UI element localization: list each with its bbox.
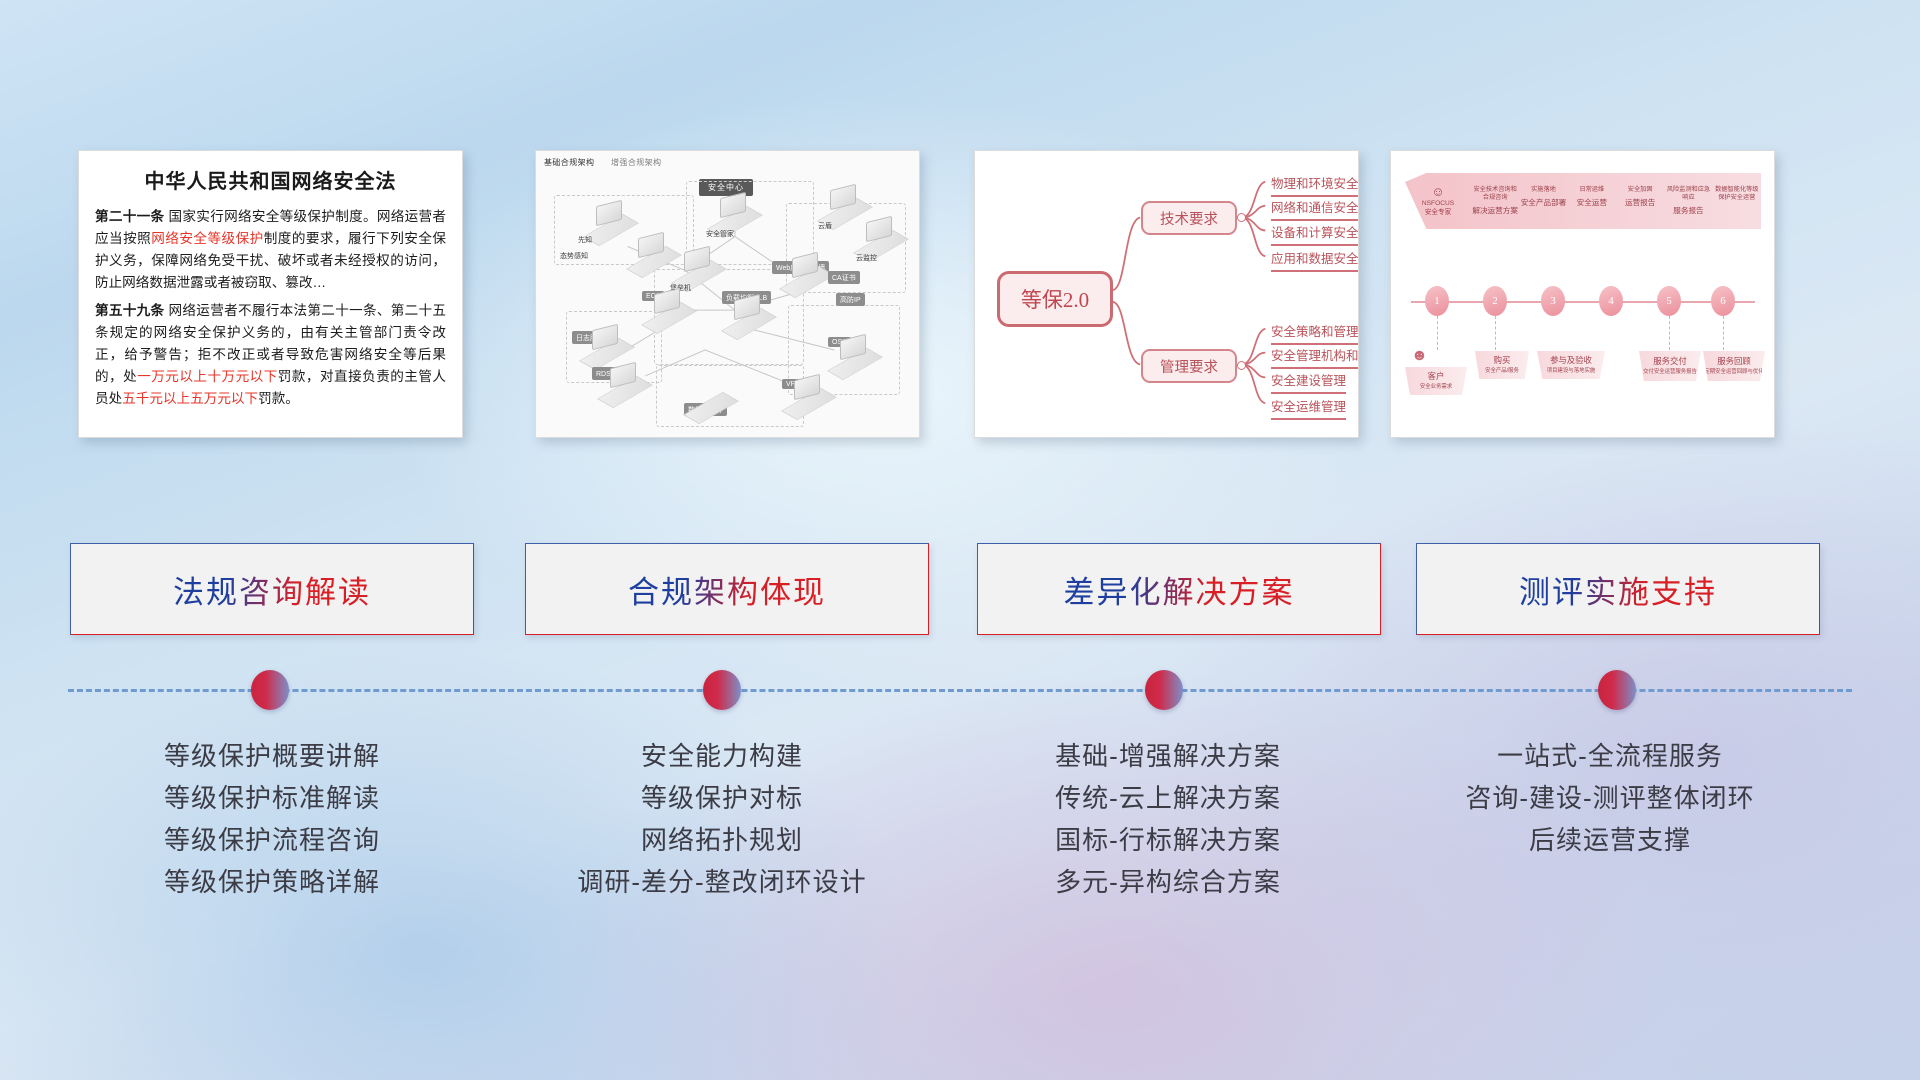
law-article-59: 第五十九条 网络运营者不履行本法第二十一条、第二十五条规定的网络安全保护义务的，… [95, 300, 446, 410]
list-item: 传统-云上解决方案 [958, 777, 1378, 819]
illustration-card-row: 中华人民共和国网络安全法 第二十一条 国家实行网络安全等级保护制度。网络运营者应… [0, 150, 1920, 440]
list-item: 等级保护对标 [512, 777, 932, 819]
timeline-dot-4[interactable] [1598, 670, 1636, 710]
timeline-dot-1[interactable] [251, 670, 289, 710]
card-compliance-architecture: 基础合规架构 增强合规架构 安全中心 先知 态势感知 [535, 150, 920, 438]
mindmap-leaf-device-compute: 设备和计算安全 [1271, 222, 1359, 246]
roadmap-dash-connector [1669, 316, 1670, 350]
roadmap-chip-sub: 安全业务需求 [1420, 384, 1452, 391]
law-text-block: 中华人民共和国网络安全法 第二十一条 国家实行网络安全等级保护制度。网络运营者应… [79, 151, 462, 420]
law-article-21: 第二十一条 国家实行网络安全等级保护制度。网络运营者应当按照网络安全等级保护制度… [95, 206, 446, 294]
mindmap-leaf-physical-env: 物理和环境安全 [1271, 173, 1359, 197]
roadmap-chip-sub: 交付安全运营服务报告 [1643, 369, 1697, 376]
law-title: 中华人民共和国网络安全法 [95, 165, 446, 194]
roadmap-dash-connector [1723, 316, 1724, 350]
roadmap-chip-title: 购买 [1494, 354, 1511, 366]
article-59-text-c: 罚款。 [258, 391, 299, 406]
roadmap-chip-participate: 参与及验收 项目建设与落地实施 [1537, 351, 1605, 379]
roadmap-axis-line [1411, 301, 1755, 303]
list-item: 等级保护策略详解 [62, 861, 482, 903]
mindmap-collapse-knob-icon[interactable] [1237, 361, 1246, 370]
roadmap-chip-customer: 客户 安全业务需求 [1405, 367, 1467, 395]
architecture-label-xianzhi: 先知 [578, 235, 592, 245]
roadmap-brand: ☺ NSFOCUS 安全专家 [1405, 185, 1471, 218]
timeline-dot-3[interactable] [1145, 670, 1183, 710]
roadmap-cell-sub: 实施落地 [1531, 186, 1556, 193]
pillar-title-2: 合规架构体现 [628, 567, 826, 612]
card-cybersecurity-law: 中华人民共和国网络安全法 第二十一条 国家实行网络安全等级保护制度。网络运营者应… [78, 150, 463, 438]
mindmap-leaf-network-comm: 网络和通信安全 [1271, 197, 1359, 221]
architecture-tag-ca: CA证书 [828, 271, 860, 284]
roadmap-chip-delivery: 服务交付 交付安全运营服务报告 [1639, 351, 1701, 381]
architecture-label-shijiao: 态势感知 [560, 251, 588, 261]
list-item: 等级保护概要讲解 [62, 735, 482, 777]
article-59-label: 第五十九条 [95, 303, 164, 318]
card-nsfocus-roadmap: ☺ NSFOCUS 安全专家 安全技术咨询和合规咨询 解决运营方案 实施落地 安… [1390, 150, 1775, 438]
architecture-label-anquanguanjia: 安全管家 [706, 229, 734, 239]
card-dengbao-mindmap: 等保2.0 技术要求 物理和环境安全 网络和通信安全 设备和计算安全 应用和数据… [974, 150, 1359, 438]
roadmap-step-5: 5 [1657, 286, 1681, 316]
mindmap-leaf-app-data: 应用和数据安全 [1271, 248, 1359, 272]
roadmap-chip-sub: 安全产品/服务 [1485, 368, 1519, 375]
mindmap-root-node: 等保2.0 [997, 271, 1113, 327]
list-item: 调研-差分-整改闭环设计 [512, 861, 932, 903]
article-59-highlight-2: 五千元以上五万元以下 [122, 391, 258, 406]
roadmap-cell-title: 安全产品部署 [1519, 198, 1567, 208]
pillar-title-row: 法规咨询解读 合规架构体现 差异化解决方案 测评实施支持 [0, 543, 1920, 635]
list-item: 咨询-建设-测评整体闭环 [1400, 777, 1820, 819]
roadmap-chip-review: 服务回顾 定期安全运营回顾与优化 [1703, 351, 1765, 381]
pillar-title-box-1[interactable]: 法规咨询解读 [70, 543, 474, 635]
list-item: 国标-行标解决方案 [958, 819, 1378, 861]
roadmap-banner: ☺ NSFOCUS 安全专家 安全技术咨询和合规咨询 解决运营方案 实施落地 安… [1405, 173, 1761, 229]
pillar-detail-list-4: 一站式-全流程服务 咨询-建设-测评整体闭环 后续运营支撑 [1400, 735, 1820, 861]
roadmap-cell-title: 解决运营方案 [1471, 206, 1519, 216]
roadmap-chip-title: 服务回顾 [1717, 355, 1751, 367]
person-star-icon: ☺ [1405, 185, 1471, 198]
list-item: 多元-异构综合方案 [958, 861, 1378, 903]
article-59-highlight-1: 一万元以上十万元以下 [137, 369, 278, 384]
mindmap-leaf-org-personnel: 安全管理机构和人员 [1271, 345, 1359, 369]
article-21-highlight: 网络安全等级保护 [151, 231, 263, 246]
architecture-label-yunjiankong: 云监控 [856, 253, 877, 263]
pillar-detail-list-3: 基础-增强解决方案 传统-云上解决方案 国标-行标解决方案 多元-异构综合方案 [958, 735, 1378, 903]
list-item: 等级保护标准解读 [62, 777, 482, 819]
roadmap-chip-title: 服务交付 [1653, 355, 1687, 367]
roadmap-chip-title: 客户 [1428, 370, 1445, 382]
roadmap-step-2: 2 [1483, 286, 1507, 316]
roadmap-dash-connector [1437, 316, 1438, 350]
roadmap-cell-sub: 风险监测和应急响应 [1667, 186, 1710, 201]
roadmap-banner-cells: 安全技术咨询和合规咨询 解决运营方案 实施落地 安全产品部署 日常运维 安全运营 [1471, 186, 1761, 216]
pillar-title-box-4[interactable]: 测评实施支持 [1416, 543, 1820, 635]
roadmap-cell: 日常运维 安全运营 [1568, 186, 1616, 216]
pillar-detail-row: 等级保护概要讲解 等级保护标准解读 等级保护流程咨询 等级保护策略详解 安全能力… [0, 735, 1920, 965]
roadmap-chip-purchase: 购买 安全产品/服务 [1475, 351, 1529, 379]
architecture-tabs: 基础合规架构 增强合规架构 [544, 157, 675, 168]
roadmap-brand-sub: 安全专家 [1405, 209, 1471, 218]
tab-basic-architecture: 基础合规架构 [544, 158, 594, 167]
roadmap-cell: 实施落地 安全产品部署 [1519, 186, 1567, 216]
roadmap-brand-name: NSFOCUS [1405, 200, 1471, 209]
roadmap-cell-sub: 安全加固 [1628, 186, 1653, 193]
mindmap-leaf-ops-mgmt: 安全运维管理 [1271, 396, 1346, 420]
mindmap-branch-management: 管理要求 [1141, 349, 1237, 383]
roadmap-step-1: 1 [1425, 286, 1449, 316]
architecture-tag-gaofang-ip: 高防IP [836, 293, 865, 306]
list-item: 一站式-全流程服务 [1400, 735, 1820, 777]
architecture-diagram: 基础合规架构 增强合规架构 安全中心 先知 态势感知 [536, 151, 919, 437]
timeline [0, 670, 1920, 710]
tab-enhanced-architecture: 增强合规架构 [611, 158, 661, 167]
timeline-dot-2[interactable] [703, 670, 741, 710]
mindmap-collapse-knob-icon[interactable] [1237, 213, 1246, 222]
pillar-title-box-3[interactable]: 差异化解决方案 [977, 543, 1381, 635]
roadmap-step-6: 6 [1711, 286, 1735, 316]
roadmap-chip-sub: 项目建设与落地实施 [1547, 368, 1596, 375]
roadmap-cell-title: 安全运营 [1568, 198, 1616, 208]
roadmap-diagram: ☺ NSFOCUS 安全专家 安全技术咨询和合规咨询 解决运营方案 实施落地 安… [1391, 151, 1774, 437]
roadmap-chip-sub: 定期安全运营回顾与优化 [1704, 369, 1763, 376]
mindmap-leaf-policy-system: 安全策略和管理制度 [1271, 321, 1359, 345]
list-item: 等级保护流程咨询 [62, 819, 482, 861]
roadmap-cell: 数据智能化等级保护安全运营 [1713, 186, 1761, 216]
roadmap-cell: 风险监测和应急响应 服务报告 [1664, 186, 1712, 216]
architecture-label-yundun: 云盾 [818, 221, 832, 231]
roadmap-cell: 安全加固 运营报告 [1616, 186, 1664, 216]
list-item: 后续运营支撑 [1400, 819, 1820, 861]
roadmap-chip-title: 参与及验收 [1550, 354, 1592, 366]
pillar-title-3: 差异化解决方案 [1064, 567, 1295, 612]
pillar-detail-list-1: 等级保护概要讲解 等级保护标准解读 等级保护流程咨询 等级保护策略详解 [62, 735, 482, 903]
list-item: 基础-增强解决方案 [958, 735, 1378, 777]
roadmap-cell-sub: 数据智能化等级保护安全运营 [1715, 186, 1758, 201]
pillar-title-1: 法规咨询解读 [173, 567, 371, 612]
mindmap-leaf-construction-mgmt: 安全建设管理 [1271, 370, 1346, 394]
roadmap-step-3: 3 [1541, 286, 1565, 316]
slide-canvas: 中华人民共和国网络安全法 第二十一条 国家实行网络安全等级保护制度。网络运营者应… [0, 0, 1920, 1080]
pillar-title-4: 测评实施支持 [1519, 567, 1717, 612]
pillar-detail-list-2: 安全能力构建 等级保护对标 网络拓扑规划 调研-差分-整改闭环设计 [512, 735, 932, 903]
roadmap-cell-sub: 日常运维 [1579, 186, 1604, 193]
roadmap-cell: 安全技术咨询和合规咨询 解决运营方案 [1471, 186, 1519, 216]
list-item: 安全能力构建 [512, 735, 932, 777]
timeline-dashed-line [68, 689, 1852, 692]
roadmap-cell-sub: 安全技术咨询和合规咨询 [1474, 186, 1517, 201]
user-account-icon: ☻ [1411, 347, 1428, 365]
article-21-label: 第二十一条 [95, 209, 164, 224]
pillar-title-box-2[interactable]: 合规架构体现 [525, 543, 929, 635]
roadmap-cell-title: 运营报告 [1616, 198, 1664, 208]
roadmap-step-4: 4 [1599, 286, 1623, 316]
roadmap-cell-title: 服务报告 [1664, 206, 1712, 216]
list-item: 网络拓扑规划 [512, 819, 932, 861]
mindmap: 等保2.0 技术要求 物理和环境安全 网络和通信安全 设备和计算安全 应用和数据… [975, 151, 1358, 437]
mindmap-branch-technical: 技术要求 [1141, 201, 1237, 235]
roadmap-dash-connector [1495, 316, 1496, 350]
